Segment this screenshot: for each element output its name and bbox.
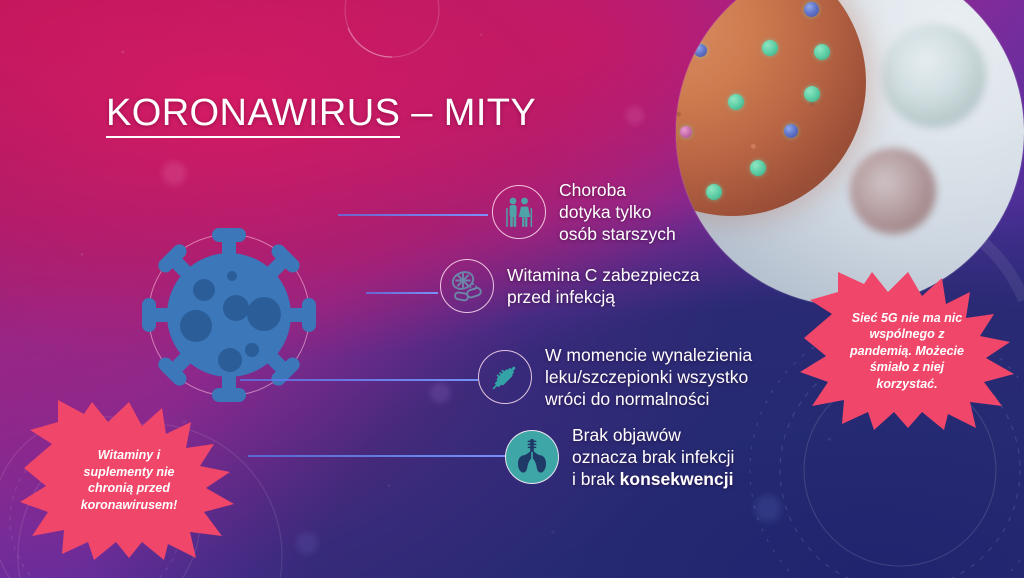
myth-text-2-line-1: Witamina C zabezpiecza <box>507 264 700 286</box>
myth-badge-1 <box>492 185 546 239</box>
connector-line-1 <box>338 214 488 216</box>
myth-text-1-line-3: osób starszych <box>559 223 676 245</box>
myth-text-1-line-2: dotyka tylko <box>559 201 676 223</box>
myth-text-2: Witamina C zabezpiecza przed infekcją <box>507 264 700 308</box>
page-title-rest: – MITY <box>400 92 536 134</box>
starburst-5g[interactable]: Sieć 5G nie ma nic wspólnego z pandemią.… <box>796 272 1018 430</box>
starburst-left-label: Witaminy i suplementy nie chronią przed … <box>18 400 240 560</box>
myth-badge-2 <box>440 259 494 313</box>
starburst-right-label: Sieć 5G nie ma nic wspólnego z pandemią.… <box>796 272 1018 430</box>
connector-line-3 <box>240 379 478 381</box>
starburst-right-line-3: pandemią. Możecie <box>850 343 964 360</box>
starburst-right-bold: 5G <box>881 311 898 325</box>
myth-text-4-line-3-bold: konsekwencji <box>620 469 734 489</box>
myth-badge-3 <box>478 350 532 404</box>
page-title: KORONAWIRUS – MITY <box>106 92 536 135</box>
starburst-right-line-4: śmiało z niej <box>870 359 944 376</box>
syringe-icon <box>487 359 523 395</box>
coronavirus-photo <box>676 0 1024 306</box>
myth-item-vitamin-c[interactable]: Witamina C zabezpiecza przed infekcją <box>440 259 700 313</box>
slide-canvas: KORONAWIRUS – MITY Choroba <box>0 0 1024 578</box>
connector-line-2 <box>366 292 438 294</box>
myth-item-no-symptoms[interactable]: Brak objawów oznacza brak infekcji i bra… <box>505 424 734 491</box>
myth-text-1: Choroba dotyka tylko osób starszych <box>559 179 676 246</box>
citrus-pills-icon <box>448 267 486 305</box>
myth-item-elderly[interactable]: Choroba dotyka tylko osób starszych <box>492 179 676 246</box>
myth-text-3-line-3: wróci do normalności <box>545 388 752 410</box>
page-title-main: KORONAWIRUS <box>106 92 400 138</box>
coronavirus-glyph <box>124 210 334 420</box>
starburst-right-line-5: korzystać. <box>876 376 937 393</box>
myth-text-3-line-1: W momencie wynalezienia <box>545 344 752 366</box>
starburst-vitamins[interactable]: Witaminy i suplementy nie chronią przed … <box>18 400 240 560</box>
elderly-couple-icon <box>502 195 536 229</box>
virion-body <box>676 0 866 216</box>
myth-text-2-line-2: przed infekcją <box>507 286 700 308</box>
myth-item-vaccine[interactable]: W momencie wynalezienia leku/szczepionki… <box>478 344 752 411</box>
starburst-left-line-3: chronią przed <box>88 480 170 497</box>
myth-text-4-line-3: i brak konsekwencji <box>572 468 734 490</box>
myth-text-3-line-2: leku/szczepionki wszystko <box>545 366 752 388</box>
starburst-left-line-4: koronawirusem! <box>81 497 178 514</box>
starburst-left-line-1: Witaminy i <box>98 447 160 464</box>
myth-badge-4 <box>505 430 559 484</box>
myth-text-1-line-1: Choroba <box>559 179 676 201</box>
myth-text-4-line-2: oznacza brak infekcji <box>572 446 734 468</box>
myth-text-4: Brak objawów oznacza brak infekcji i bra… <box>572 424 734 491</box>
starburst-left-line-2: suplementy nie <box>84 464 175 481</box>
lungs-icon <box>512 437 552 477</box>
myth-text-4-line-3-plain: i brak <box>572 469 620 489</box>
myth-text-3: W momencie wynalezienia leku/szczepionki… <box>545 344 752 411</box>
starburst-right-line-2: wspólnego z <box>870 326 945 343</box>
starburst-right-line-1: Sieć 5G nie ma nic <box>852 310 962 327</box>
myth-text-4-line-1: Brak objawów <box>572 424 734 446</box>
connector-line-4 <box>248 455 506 457</box>
